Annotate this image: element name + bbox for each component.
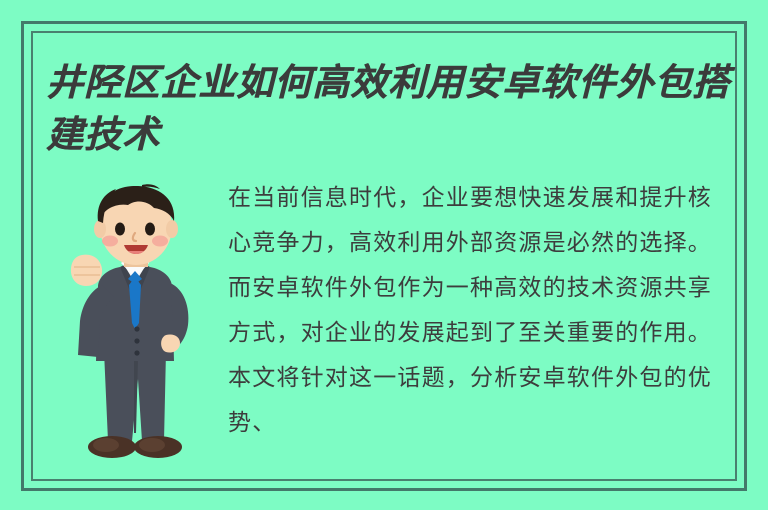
- poster-canvas: 井陉区企业如何高效利用安卓软件外包搭建技术: [0, 0, 768, 510]
- cartoon-businessman-illustration: [58, 183, 210, 473]
- article-body: 在当前信息时代，企业要想快速发展和提升核心竞争力，高效利用外部资源是必然的选择。…: [228, 176, 728, 446]
- page-title: 井陉区企业如何高效利用安卓软件外包搭建技术: [46, 56, 736, 160]
